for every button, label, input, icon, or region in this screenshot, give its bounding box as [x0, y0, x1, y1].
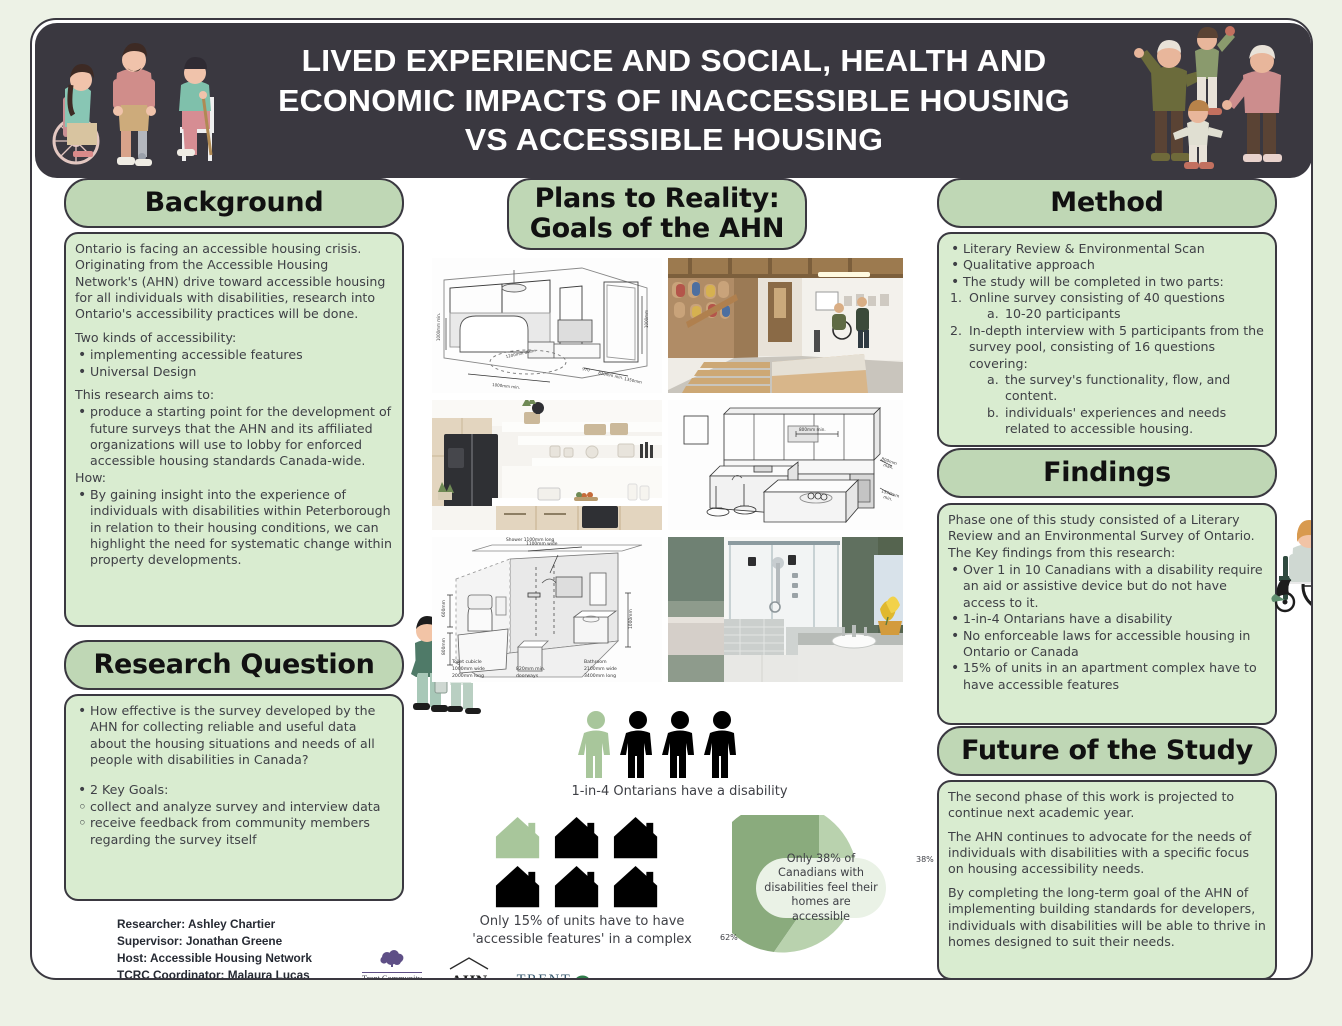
list-item: 1-in-4 Ontarians have a disability: [948, 611, 1266, 627]
svg-text:Bathroom: Bathroom: [584, 659, 607, 665]
list-item: Universal Design: [75, 364, 393, 380]
method-sublist-2: the survey's functionality, flow, and co…: [985, 372, 1266, 437]
credit-host: Host: Accessible Housing Network: [117, 950, 312, 967]
section-header-future-label: Future of the Study: [961, 736, 1253, 766]
background-aims-lead: This research aims to:: [75, 387, 393, 403]
group-of-people-with-disabilities-illustration: [43, 23, 233, 178]
background-how-lead: How:: [75, 470, 393, 486]
living-room-dimension-drawing: 1000mm min. 1000mm min. 1200mm diam. 970…: [432, 258, 662, 393]
pie-label-38: 38%: [916, 855, 934, 864]
background-how-list: By gaining insight into the experience o…: [75, 487, 393, 569]
method-numbered-list: Online survey consisting of 40 questions…: [948, 290, 1266, 437]
findings-list: Over 1 in 10 Canadians with a disability…: [948, 562, 1266, 693]
poster-title-banner: LIVED EXPERIENCE AND SOCIAL, HEALTH AND …: [35, 23, 1312, 178]
svg-text:2100mm wide: 2100mm wide: [584, 666, 617, 672]
svg-text:Shower 1100mm long: Shower 1100mm long: [506, 537, 555, 543]
svg-text:doorways: doorways: [516, 673, 539, 679]
list-item: Qualitative approach: [948, 257, 1266, 273]
section-body-method: Literary Review & Environmental Scan Qua…: [937, 232, 1277, 447]
svg-text:2000mm long: 2000mm long: [452, 673, 484, 679]
list-item: In-depth interview with 5 participants f…: [948, 323, 1266, 438]
section-body-future: The second phase of this work is project…: [937, 780, 1277, 980]
list-item: Online survey consisting of 40 questions…: [948, 290, 1266, 323]
list-item: receive feedback from community members …: [75, 815, 393, 848]
house-icon: [551, 864, 608, 909]
kitchen-dimension-drawing: 800mm min. 800mm max. 1550mm min.: [668, 400, 903, 530]
plans-image-grid: 1000mm min. 1000mm min. 1200mm diam. 970…: [432, 258, 907, 698]
logo-row: Trent Community Research Centre AHN Acce…: [362, 945, 622, 980]
section-header-plans-label: Plans to Reality: Goals of the AHN: [530, 184, 784, 243]
future-paragraph-3: By completing the long-term goal of the …: [948, 885, 1266, 950]
section-header-background-label: Background: [145, 188, 324, 218]
list-item: produce a starting point for the develop…: [75, 404, 393, 469]
person-icon-highlighted: [577, 710, 615, 778]
findings-paragraph-2: The Key findings from this research:: [948, 545, 1266, 561]
logo-label-line-1: TRENT: [517, 973, 572, 980]
ahn-logo: AHN Accessible Housing Network: [438, 955, 501, 980]
list-item: Over 1 in 10 Canadians with a disability…: [948, 562, 1266, 611]
section-header-findings: Findings: [937, 448, 1277, 498]
list-item: 15% of units in an apartment complex hav…: [948, 660, 1266, 693]
pictogram-caption-units: Only 15% of units have to have 'accessib…: [457, 913, 707, 948]
section-body-background: Ontario is facing an accessible housing …: [64, 232, 404, 627]
person-icon: [661, 710, 699, 778]
house-icon: [610, 815, 667, 860]
method-sublist-1: 10-20 participants: [985, 306, 1266, 322]
section-header-research-question: Research Question: [64, 640, 404, 690]
list-item: How effective is the survey developed by…: [75, 703, 393, 768]
kitchen-photo: [432, 400, 662, 530]
findings-paragraph-1: Phase one of this study consisted of a L…: [948, 512, 1266, 545]
svg-text:820mm min.: 820mm min.: [516, 666, 545, 672]
credit-supervisor: Supervisor: Jonathan Greene: [117, 933, 312, 950]
svg-text:1000mm: 1000mm: [628, 609, 634, 629]
list-item-text: Online survey consisting of 40 questions: [969, 290, 1225, 305]
logo-label-line-1: Trent Community: [362, 974, 422, 980]
research-goals-lead: 2 Key Goals:: [75, 782, 393, 798]
house-roof-icon: [447, 957, 491, 970]
bathroom-photo: [668, 537, 903, 682]
research-goals-list: 2 Key Goals:: [75, 782, 393, 798]
section-header-research-question-label: Research Question: [93, 650, 374, 680]
house-icon: [492, 864, 549, 909]
accessible-units-pictogram: [492, 815, 667, 910]
list-item: The study will be completed in two parts…: [948, 274, 1266, 290]
section-header-findings-label: Findings: [1043, 458, 1171, 488]
list-item: 10-20 participants: [985, 306, 1266, 322]
trent-crest-icon: [573, 975, 592, 980]
list-item: collect and analyze survey and interview…: [75, 799, 393, 815]
page-title-line-2: ECONOMIC IMPACTS OF INACCESSIBLE HOUSING: [210, 81, 1137, 120]
svg-text:800mm: 800mm: [441, 638, 447, 655]
bathroom-dimension-drawing: 600mm 800mm 1000mm 1100mm wide Shower 11…: [432, 537, 662, 682]
research-question-list: How effective is the survey developed by…: [75, 703, 393, 768]
section-header-method-label: Method: [1050, 188, 1163, 218]
trent-community-research-centre-logo: Trent Community Research Centre: [362, 950, 422, 980]
house-icon: [610, 864, 667, 909]
svg-text:3400mm long: 3400mm long: [584, 673, 616, 679]
house-icon-highlighted: [492, 815, 549, 860]
background-aims-list: produce a starting point for the develop…: [75, 404, 393, 469]
credit-coordinator: TCRC Coordinator: Malaura Lucas: [117, 967, 312, 980]
credits-block: Researcher: Ashley Chartier Supervisor: …: [117, 916, 312, 980]
ontarians-disability-pictogram: [577, 710, 777, 778]
pie-label-62: 62%: [720, 933, 738, 942]
section-body-findings: Phase one of this study consisted of a L…: [937, 503, 1277, 725]
page-title-line-3: VS ACCESSIBLE HOUSING: [210, 120, 1137, 159]
svg-text:1000mm: 1000mm: [644, 310, 649, 328]
list-item: No enforceable laws for accessible housi…: [948, 628, 1266, 661]
ramp-hallway-photo: [668, 258, 903, 393]
future-paragraph-1: The second phase of this work is project…: [948, 789, 1266, 822]
poster-canvas: LIVED EXPERIENCE AND SOCIAL, HEALTH AND …: [30, 18, 1313, 980]
page-title-line-1: LIVED EXPERIENCE AND SOCIAL, HEALTH AND: [210, 41, 1137, 80]
section-body-research-question: How effective is the survey developed by…: [64, 694, 404, 901]
family-illustration: [1129, 23, 1304, 178]
person-icon: [703, 710, 741, 778]
section-header-future: Future of the Study: [937, 726, 1277, 776]
list-item: implementing accessible features: [75, 347, 393, 363]
svg-text:800mm min.: 800mm min.: [799, 427, 826, 432]
house-icon: [551, 815, 608, 860]
woman-in-wheelchair-illustration: [1267, 518, 1313, 618]
person-icon: [619, 710, 657, 778]
list-item: By gaining insight into the experience o…: [75, 487, 393, 569]
research-goals-sublist: collect and analyze survey and interview…: [75, 799, 393, 848]
background-two-kinds-lead: Two kinds of accessibility:: [75, 330, 393, 346]
logo-label-line-1: AHN: [438, 974, 501, 980]
plans-header-line-1: Plans to Reality:: [535, 183, 780, 214]
list-item-text: In-depth interview with 5 participants f…: [969, 323, 1264, 371]
page-title: LIVED EXPERIENCE AND SOCIAL, HEALTH AND …: [210, 41, 1137, 159]
svg-text:1000mm wide: 1000mm wide: [452, 666, 485, 672]
tree-icon: [375, 950, 409, 968]
plans-header-line-2: Goals of the AHN: [530, 213, 784, 244]
section-header-background: Background: [64, 178, 404, 228]
list-item: the survey's functionality, flow, and co…: [985, 372, 1266, 405]
future-paragraph-2: The AHN continues to advocate for the ne…: [948, 829, 1266, 878]
pictogram-caption-ontarians: 1-in-4 Ontarians have a disability: [502, 783, 857, 801]
background-paragraph-1: Ontario is facing an accessible housing …: [75, 241, 393, 323]
background-two-kinds-list: implementing accessible features Univers…: [75, 347, 393, 380]
svg-text:1000mm min.: 1000mm min.: [436, 313, 441, 341]
svg-text:600mm: 600mm: [441, 600, 447, 617]
trent-university-logo: TRENT UNIVERSITY: [517, 973, 593, 980]
svg-text:Toilet cubicle: Toilet cubicle: [451, 659, 482, 665]
list-item: individuals' experiences and needs relat…: [985, 405, 1266, 438]
pie-center-label: Only 38% of Canadians with disabilities …: [756, 858, 886, 918]
method-bullets: Literary Review & Environmental Scan Qua…: [948, 241, 1266, 290]
credit-researcher: Researcher: Ashley Chartier: [117, 916, 312, 933]
section-header-method: Method: [937, 178, 1277, 228]
section-header-plans-to-reality: Plans to Reality: Goals of the AHN: [507, 178, 807, 250]
list-item: Literary Review & Environmental Scan: [948, 241, 1266, 257]
